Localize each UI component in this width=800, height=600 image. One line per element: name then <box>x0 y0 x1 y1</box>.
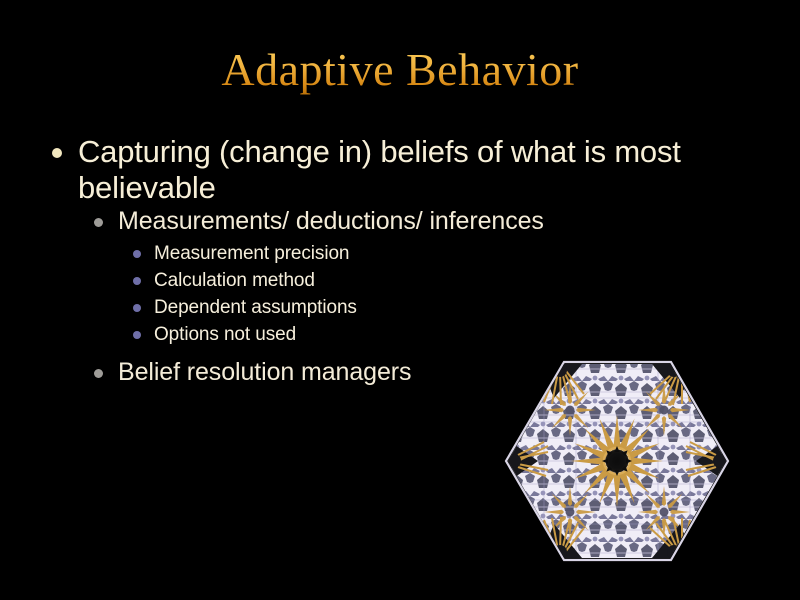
bullet-level1-label: Capturing (change in) beliefs of what is… <box>78 134 770 206</box>
bullet-dot-icon <box>133 331 141 339</box>
hexagon-geometric-ornament-icon <box>504 358 730 564</box>
bullet-dot-icon <box>133 250 141 258</box>
bullet-level2-measurements: Measurements/ deductions/ inferences <box>0 206 800 237</box>
list-spacer <box>0 348 800 357</box>
bullet-dot-icon <box>133 304 141 312</box>
bullet-dot-icon <box>52 148 62 158</box>
bullet-level3-options-not-used: Options not used <box>0 321 800 348</box>
bullet-level3-label: Dependent assumptions <box>154 294 800 321</box>
bullet-dot-icon <box>133 277 141 285</box>
bullet-level3-group: Measurement precision Calculation method… <box>0 240 800 348</box>
page-title: Adaptive Behavior <box>0 44 800 96</box>
slide-body: Capturing (change in) beliefs of what is… <box>0 134 800 388</box>
bullet-level3-label: Options not used <box>154 321 800 348</box>
bullet-dot-icon <box>94 369 103 378</box>
bullet-level3-label: Measurement precision <box>154 240 800 267</box>
bullet-list: Capturing (change in) beliefs of what is… <box>0 134 800 388</box>
bullet-level1: Capturing (change in) beliefs of what is… <box>0 134 800 206</box>
bullet-level2-label: Measurements/ deductions/ inferences <box>118 206 800 237</box>
bullet-dot-icon <box>94 218 103 227</box>
slide: Adaptive Behavior Capturing (change in) … <box>0 0 800 600</box>
bullet-level3-calculation-method: Calculation method <box>0 267 800 294</box>
bullet-level3-measurement-precision: Measurement precision <box>0 240 800 267</box>
bullet-level3-label: Calculation method <box>154 267 800 294</box>
bullet-level3-dependent-assumptions: Dependent assumptions <box>0 294 800 321</box>
bullet-sublist: Measurement precision Calculation method… <box>0 240 800 348</box>
